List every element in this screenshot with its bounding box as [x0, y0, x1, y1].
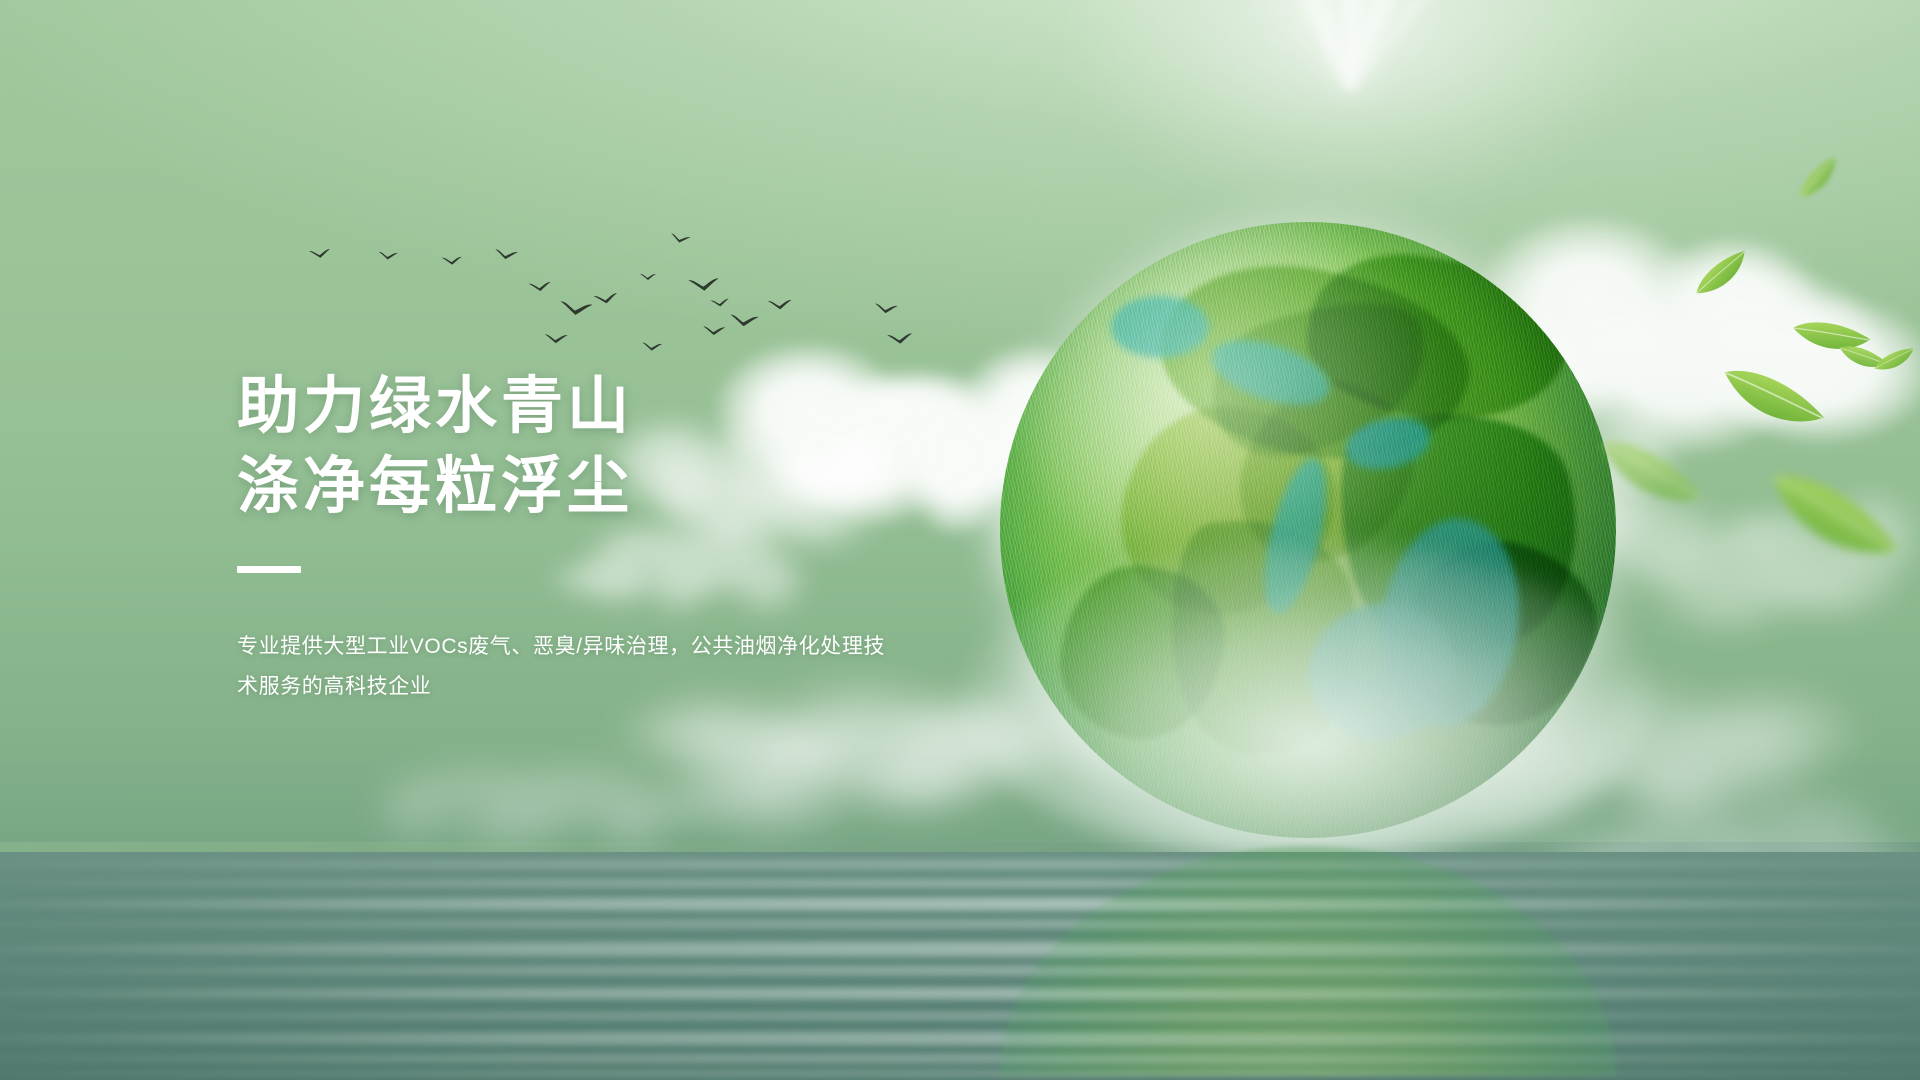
headline-divider	[237, 566, 301, 573]
water-surface	[0, 852, 1920, 1080]
water-ripple	[0, 858, 1920, 867]
headline-line-1: 助力绿水青山	[237, 370, 997, 444]
bird-icon	[702, 325, 726, 337]
bird-icon	[688, 277, 721, 294]
bird-icon	[640, 273, 657, 281]
headline-line-2: 涤净每粒浮尘	[237, 450, 997, 524]
banner-subtitle: 专业提供大型工业VOCs废气、恶臭/异味治理，公共油烟净化处理技术服务的高科技企…	[237, 627, 897, 707]
water-ripple	[0, 940, 1920, 954]
bird-icon	[886, 332, 913, 346]
water-ripple	[0, 1052, 1920, 1061]
bird-icon	[544, 333, 568, 345]
bird-icon	[528, 281, 552, 293]
water-ripple	[0, 918, 1920, 926]
bird-icon	[641, 342, 662, 353]
water-ripple	[0, 1068, 1920, 1075]
bird-icon	[767, 299, 792, 311]
banner-copy: 助力绿水青山 涤净每粒浮尘 专业提供大型工业VOCs废气、恶臭/异味治理，公共油…	[237, 370, 997, 728]
bird-icon	[729, 313, 760, 329]
green-earth-globe	[1000, 222, 1616, 838]
water-ripple	[0, 1030, 1920, 1043]
globe-cloud-veil	[963, 542, 1653, 862]
water-ripple	[0, 1010, 1920, 1018]
water-ripple	[0, 964, 1920, 973]
bird-icon	[378, 251, 399, 261]
water-ripple	[0, 986, 1920, 997]
water-ripple	[0, 878, 1920, 885]
water-ripple	[0, 896, 1920, 908]
hero-banner: 助力绿水青山 涤净每粒浮尘 专业提供大型工业VOCs废气、恶臭/异味治理，公共油…	[0, 0, 1920, 1080]
bird-icon	[441, 256, 462, 266]
